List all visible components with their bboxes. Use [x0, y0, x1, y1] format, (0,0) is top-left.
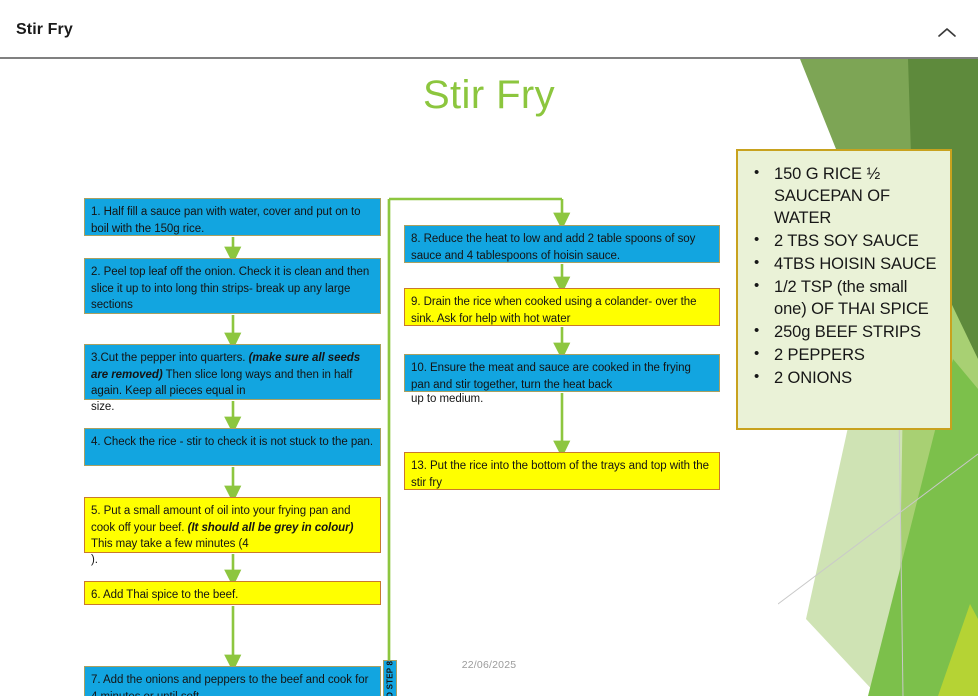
flow-node-10-text: 10. Ensure the meat and sauce are cooked… [411, 362, 691, 391]
flow-node-4-text: 4. Check the rice - stir to check it is … [91, 436, 373, 448]
flow-node-5-text-tail: This may take a few minutes (4 [91, 538, 249, 550]
flow-node-5-text-emphasis: (It should all be grey in colour) [188, 522, 354, 534]
flow-node-3[interactable]: 3.Cut the pepper into quarters. (make su… [84, 344, 381, 400]
flow-node-3-text-lead: 3.Cut the pepper into quarters. [91, 352, 249, 364]
ingredients-panel: 150 G RICE ½ SAUCEPAN OF WATER 2 TBS SOY… [736, 149, 952, 430]
list-item: 2 PEPPERS [748, 344, 942, 366]
flow-node-7-text: 7. Add the onions and peppers to the bee… [91, 674, 368, 696]
flow-node-10-overflow: up to medium. [411, 391, 725, 408]
flow-node-1[interactable]: 1. Half fill a sauce pan with water, cov… [84, 198, 381, 236]
page-title: Stir Fry [16, 21, 73, 39]
list-item: 2 TBS SOY SAUCE [748, 230, 942, 252]
ingredients-list: 150 G RICE ½ SAUCEPAN OF WATER 2 TBS SOY… [748, 163, 942, 389]
window-top-bar: Stir Fry [0, 0, 978, 59]
list-item: 2 ONIONS [748, 367, 942, 389]
flow-node-13[interactable]: 13. Put the rice into the bottom of the … [404, 452, 720, 490]
flow-node-8[interactable]: 8. Reduce the heat to low and add 2 tabl… [404, 225, 720, 263]
flow-node-1-text: 1. Half fill a sauce pan with water, cov… [91, 206, 361, 235]
slide-canvas: Stir Fry [0, 59, 978, 696]
slide-date: 22/06/2025 [0, 659, 978, 671]
flow-node-3-overflow: size. [91, 399, 386, 416]
flow-node-8-text: 8. Reduce the heat to low and add 2 tabl… [411, 233, 695, 262]
list-item: 1/2 TSP (the small one) OF THAI SPICE [748, 276, 942, 320]
chevron-up-icon[interactable] [934, 20, 960, 46]
flow-node-9[interactable]: 9. Drain the rice when cooked using a co… [404, 288, 720, 326]
list-item: 4TBS HOISIN SAUCE [748, 253, 942, 275]
flow-node-6[interactable]: 6. Add Thai spice to the beef. [84, 581, 381, 605]
flow-node-2-text: 2. Peel top leaf off the onion. Check it… [91, 266, 369, 311]
list-item: 150 G RICE ½ SAUCEPAN OF WATER [748, 163, 942, 229]
flow-node-5-overflow: ). [91, 552, 386, 569]
flow-node-2[interactable]: 2. Peel top leaf off the onion. Check it… [84, 258, 381, 314]
flow-node-6-text: 6. Add Thai spice to the beef. [91, 589, 238, 601]
list-item: 250g BEEF STRIPS [748, 321, 942, 343]
flow-node-4[interactable]: 4. Check the rice - stir to check it is … [84, 428, 381, 466]
flow-node-10[interactable]: 10. Ensure the meat and sauce are cooked… [404, 354, 720, 392]
flow-node-13-text: 13. Put the rice into the bottom of the … [411, 460, 709, 489]
flow-node-9-text: 9. Drain the rice when cooked using a co… [411, 296, 697, 325]
flow-node-5[interactable]: 5. Put a small amount of oil into your f… [84, 497, 381, 553]
